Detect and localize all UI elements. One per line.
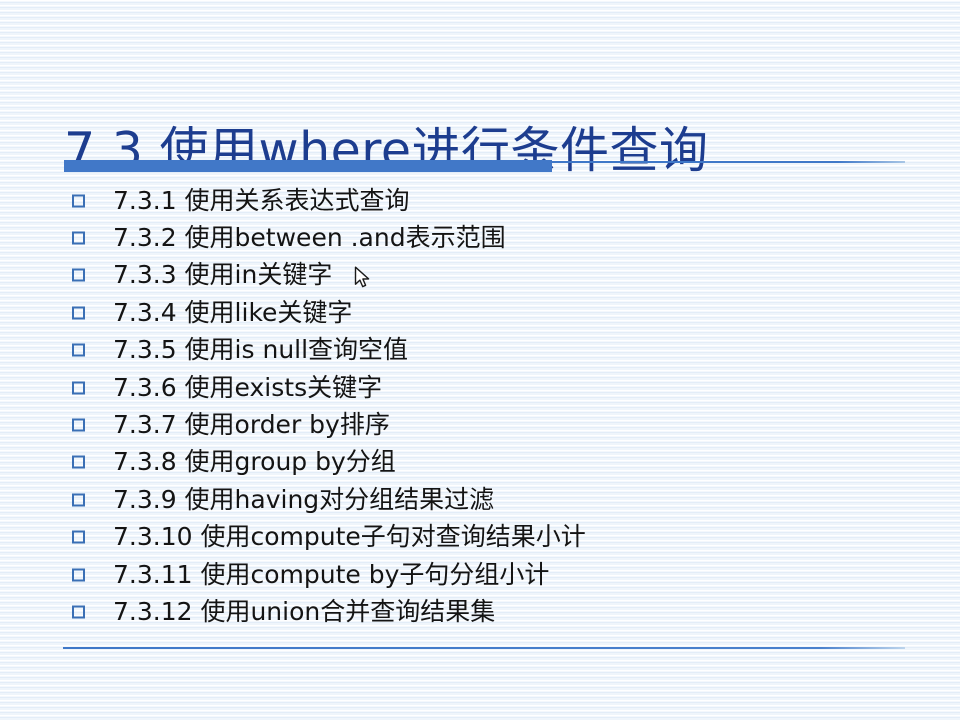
square-bullet-icon xyxy=(72,381,85,394)
list-item-label: 7.3.4 使用like关键字 xyxy=(113,298,352,328)
list-item-label: 7.3.8 使用group by分组 xyxy=(113,447,396,477)
list-item-label: 7.3.2 使用between .and表示范围 xyxy=(113,223,506,253)
list-item: 7.3.2 使用between .and表示范围 xyxy=(0,219,960,256)
presentation-slide: 7.3 使用where进行条件查询 7.3.1 使用关系表达式查询7.3.2 使… xyxy=(0,0,960,720)
square-bullet-icon xyxy=(72,531,85,544)
list-item: 7.3.12 使用union合并查询结果集 xyxy=(0,593,960,630)
square-bullet-icon xyxy=(72,568,85,581)
list-item-label: 7.3.5 使用is null查询空值 xyxy=(113,335,408,365)
list-item-label: 7.3.9 使用having对分组结果过滤 xyxy=(113,485,494,515)
list-item: 7.3.7 使用order by排序 xyxy=(0,406,960,443)
slide-bottom-rule xyxy=(63,647,905,649)
list-item: 7.3.3 使用in关键字 xyxy=(0,257,960,294)
list-item: 7.3.1 使用关系表达式查询 xyxy=(0,182,960,219)
square-bullet-icon xyxy=(72,456,85,469)
list-item: 7.3.11 使用compute by子句分组小计 xyxy=(0,556,960,593)
list-item-label: 7.3.12 使用union合并查询结果集 xyxy=(113,597,495,627)
square-bullet-icon xyxy=(72,344,85,357)
square-bullet-icon xyxy=(72,306,85,319)
list-item-label: 7.3.11 使用compute by子句分组小计 xyxy=(113,560,549,590)
title-underline-accent-bar xyxy=(64,160,552,172)
list-item-label: 7.3.10 使用compute子句对查询结果小计 xyxy=(113,522,586,552)
square-bullet-icon xyxy=(72,269,85,282)
square-bullet-icon xyxy=(72,194,85,207)
list-item-label: 7.3.6 使用exists关键字 xyxy=(113,373,382,403)
list-item: 7.3.4 使用like关键字 xyxy=(0,294,960,331)
list-item: 7.3.5 使用is null查询空值 xyxy=(0,332,960,369)
list-item-label: 7.3.3 使用in关键字 xyxy=(113,260,332,290)
square-bullet-icon xyxy=(72,493,85,506)
list-item-label: 7.3.7 使用order by排序 xyxy=(113,410,390,440)
list-item: 7.3.6 使用exists关键字 xyxy=(0,369,960,406)
list-item: 7.3.9 使用having对分组结果过滤 xyxy=(0,481,960,518)
list-item: 7.3.8 使用group by分组 xyxy=(0,444,960,481)
square-bullet-icon xyxy=(72,605,85,618)
slide-bullet-list: 7.3.1 使用关系表达式查询7.3.2 使用between .and表示范围7… xyxy=(0,182,960,631)
list-item-label: 7.3.1 使用关系表达式查询 xyxy=(113,186,410,216)
square-bullet-icon xyxy=(72,232,85,245)
list-item: 7.3.10 使用compute子句对查询结果小计 xyxy=(0,519,960,556)
square-bullet-icon xyxy=(72,419,85,432)
